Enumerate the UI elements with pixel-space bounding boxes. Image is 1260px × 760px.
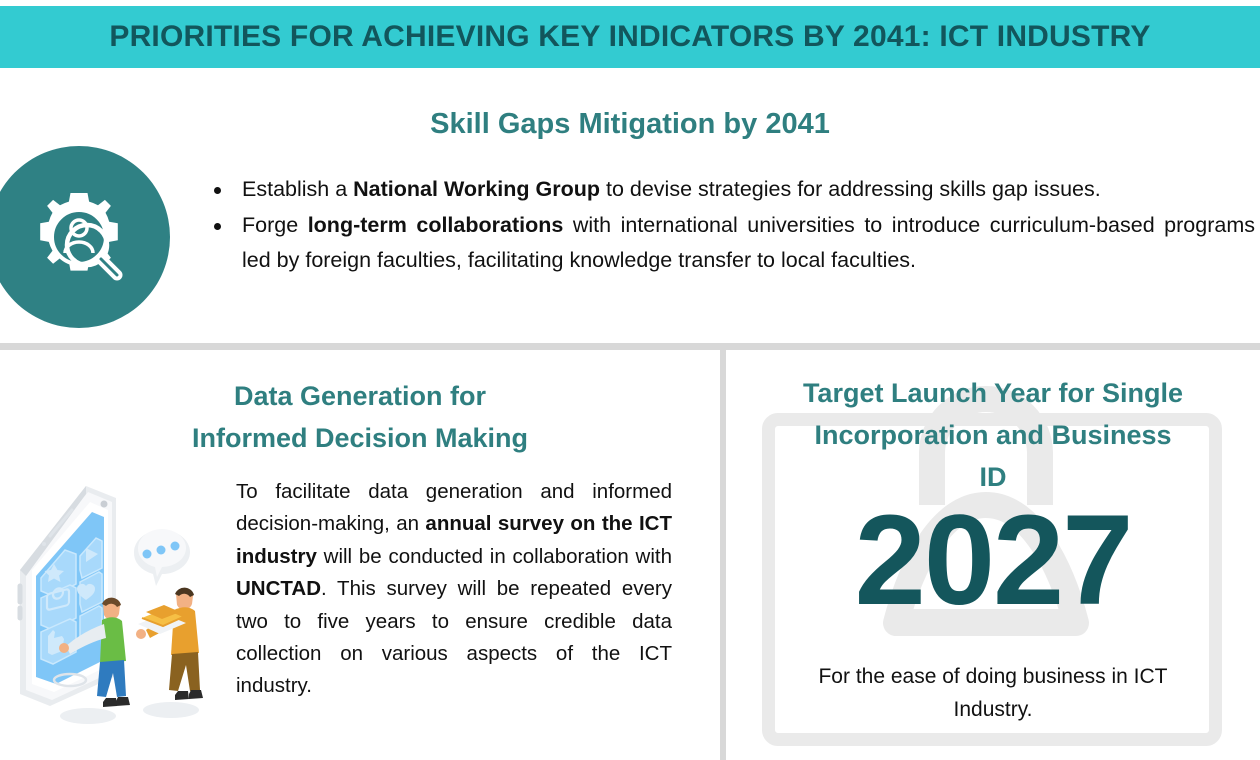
list-item: Establish a National Working Group to de… [200,172,1255,207]
target-year-caption: For the ease of doing business in ICT In… [778,660,1208,726]
paragraph-part-2: will be conducted in collaboration with [317,545,672,568]
target-launch-year-section: Target Launch Year for Single Incorporat… [726,350,1260,760]
target-launch-year-title: Target Launch Year for Single Incorporat… [748,372,1238,498]
horizontal-divider [0,343,1260,350]
data-generation-title: Data Generation for Informed Decision Ma… [40,375,680,459]
bullet-text-bold-1: National Working Group [353,177,600,201]
data-generation-section: Data Generation for Informed Decision Ma… [0,350,720,760]
data-generation-title-line2: Informed Decision Making [192,423,528,453]
paragraph-bold-2: UNCTAD [236,577,321,600]
skill-gaps-title: Skill Gaps Mitigation by 2041 [0,108,1260,141]
page-title: PRIORITIES FOR ACHIEVING KEY INDICATORS … [109,20,1150,54]
bullet-text-bold-2: long-term collaborations [308,213,564,237]
target-title-line3: ID [980,462,1007,492]
gear-person-magnifier-icon [0,146,170,328]
target-year-value: 2027 [748,497,1238,625]
bullet-text-plain-3: Forge [242,213,308,237]
bullet-text-plain-1: Establish a [242,177,353,201]
skill-gaps-section: Skill Gaps Mitigation by 2041 Establish … [0,68,1260,343]
list-item: Forge long-term collaborations with inte… [200,208,1255,278]
data-generation-title-line1: Data Generation for [234,381,486,411]
target-title-line2: Incorporation and Business [814,420,1171,450]
bullet-text-plain-2: to devise strategies for addressing skil… [600,177,1101,201]
isometric-smartphone-people-illustration [8,458,228,758]
header-banner: PRIORITIES FOR ACHIEVING KEY INDICATORS … [0,6,1260,68]
target-title-line1: Target Launch Year for Single [803,378,1183,408]
data-generation-paragraph: To facilitate data generation and inform… [236,476,672,703]
skill-gaps-bullet-list: Establish a National Working Group to de… [200,172,1255,279]
